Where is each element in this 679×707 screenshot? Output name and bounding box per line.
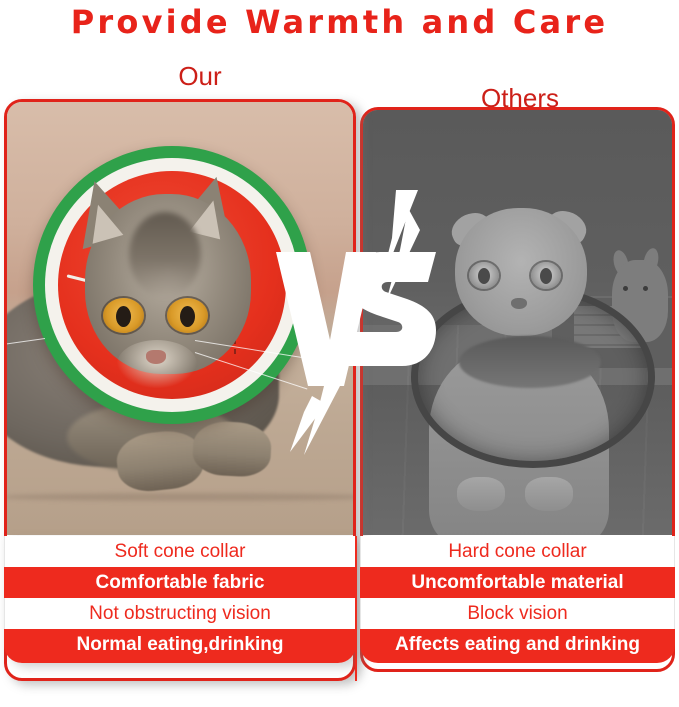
feature-list-others: Hard cone collar Uncomfortable material … <box>360 536 675 663</box>
feature-row: Hard cone collar <box>360 536 675 567</box>
pupil <box>540 268 552 284</box>
feature-row: Comfortable fabric <box>4 567 356 598</box>
feature-row: Uncomfortable material <box>360 567 675 598</box>
plush-toy-eye <box>623 286 628 291</box>
column-caption-our: Our <box>140 62 260 90</box>
feature-row: Block vision <box>360 598 675 629</box>
pupil <box>116 306 131 327</box>
feature-row: Normal eating,drinking <box>4 629 356 663</box>
kitten-eye-left <box>103 298 144 333</box>
gray-cat-paw-left <box>457 477 505 511</box>
cat-paw-right <box>192 420 273 478</box>
gray-cat-eye-left <box>469 262 499 289</box>
page-title: Provide Warmth and Care <box>0 2 679 42</box>
feature-row: Soft cone collar <box>4 536 356 567</box>
plush-toy-eye <box>643 286 648 291</box>
feature-row: Not obstructing vision <box>4 598 356 629</box>
kitten-forehead-markings <box>129 212 201 298</box>
pupil <box>478 268 490 284</box>
gray-cat-neck-fur <box>459 336 601 388</box>
kitten-nose <box>146 350 166 364</box>
pupil <box>180 306 195 327</box>
kitten-muzzle <box>117 340 197 388</box>
kitten-eye-right <box>167 298 208 333</box>
cushion-seam <box>7 493 353 501</box>
product-photo-our <box>7 102 353 535</box>
gray-cat-eye-right <box>531 262 561 289</box>
feature-list-our: Soft cone collar Comfortable fabric Not … <box>4 536 356 663</box>
gray-cat-nose <box>511 298 527 309</box>
product-photo-others <box>363 110 672 535</box>
feature-row: Affects eating and drinking <box>360 629 675 663</box>
gray-cat-paw-right <box>525 477 573 511</box>
feature-columns-divider <box>355 536 357 681</box>
